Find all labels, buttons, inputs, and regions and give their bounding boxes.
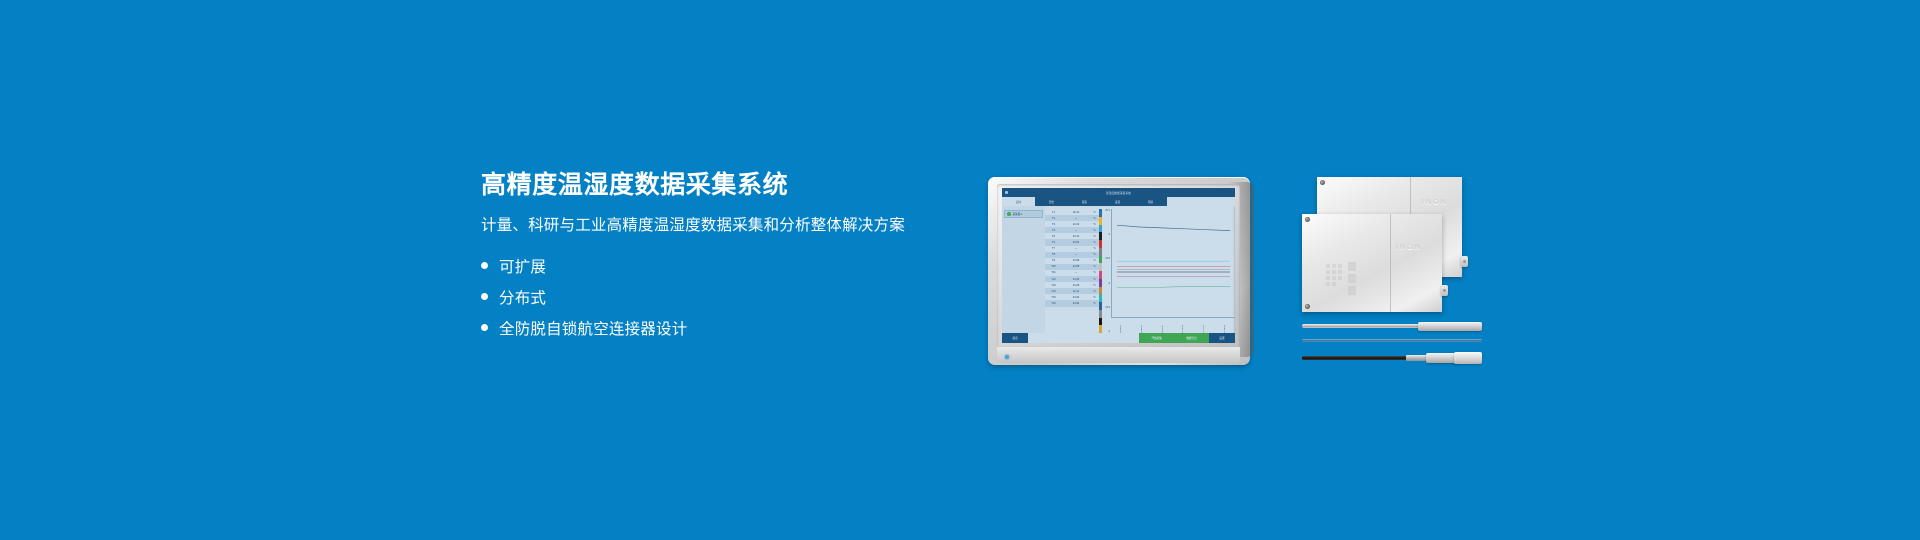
screw-icon: [1320, 180, 1325, 185]
screw-icon: [1305, 217, 1310, 222]
channel-unit: ℃: [1090, 290, 1099, 293]
list-item: 分布式: [481, 281, 951, 312]
channel-value: 24.19: [1062, 223, 1090, 226]
channel-unit: ℃: [1090, 235, 1099, 238]
chart-area: 25.1.024.8.624.5.2 16:20:0216:41:0916:52…: [1102, 206, 1235, 333]
channel-unit: ℃: [1090, 302, 1099, 305]
feature-label: 分布式: [499, 286, 546, 308]
channel-unit: ℃: [1090, 296, 1099, 299]
channel-id: T13: [1045, 284, 1062, 287]
channel-unit: ℃: [1090, 284, 1099, 287]
mounting-lug: [1461, 256, 1468, 267]
channel-id: T3: [1045, 223, 1062, 226]
tab-realtime[interactable]: 实时: [1002, 197, 1035, 206]
chart-y-axis: 25.1.024.8.624.5.2: [1102, 209, 1111, 333]
channel-id: T14: [1045, 290, 1062, 293]
chart-series-line: [1117, 286, 1230, 287]
monitor-product-image: 温湿度数据采集系统 实时 历史 报表 设置 帮助 采集器-1: [988, 177, 1250, 365]
y-tick-label: .6: [1108, 282, 1110, 285]
x-tick-label: 16:20:02: [1120, 319, 1122, 333]
y-tick-label: .0: [1108, 233, 1110, 236]
channel-value: 24.94: [1062, 302, 1090, 305]
start-acquisition-button[interactable]: 开始采集: [1139, 333, 1174, 343]
channel-id: T9: [1045, 259, 1062, 262]
app-title: 温湿度数据采集系统: [1002, 191, 1235, 195]
banner-copy: 高精度温湿度数据采集系统 计量、科研与工业高精度温湿度数据采集和分析整体解决方案…: [481, 172, 951, 343]
tab-report[interactable]: 报表: [1068, 197, 1101, 206]
list-item: 全防脱自锁航空连接器设计: [481, 312, 951, 343]
channel-id: T6: [1045, 241, 1062, 244]
app-titlebar: 温湿度数据采集系统: [1002, 188, 1235, 197]
stainless-probe: [1302, 322, 1482, 330]
enclosure-front-unit: INON: [1302, 214, 1442, 312]
screw-icon: [1305, 304, 1310, 309]
device-tree-panel: 采集器-1: [1002, 206, 1045, 333]
table-row[interactable]: T1624.94℃: [1045, 300, 1099, 306]
channel-unit: ℃: [1090, 265, 1099, 268]
hardware-product-images: INON INON: [1300, 172, 1480, 372]
tree-node-collector[interactable]: 采集器-1: [1004, 210, 1043, 218]
feature-label: 全防脱自锁航空连接器设计: [499, 317, 687, 339]
tab-help[interactable]: 帮助: [1134, 197, 1167, 206]
bullet-dot-icon: [481, 262, 488, 269]
channel-id: T12: [1045, 278, 1062, 281]
channel-id: T15: [1045, 296, 1062, 299]
monitor-chin: [997, 347, 1240, 363]
channel-value: ---: [1062, 271, 1090, 274]
chart-x-axis: 16:20:0216:41:0916:52:1117:03:0417:27:05…: [1111, 317, 1235, 333]
channel-id: T4: [1045, 229, 1062, 232]
channel-unit: ℃: [1090, 217, 1099, 220]
chart-series-line: [1117, 225, 1230, 230]
tree-node-label: 采集器-1: [1013, 212, 1023, 216]
channel-unit: ℃: [1090, 247, 1099, 250]
bullet-dot-icon: [481, 293, 488, 300]
channel-unit: ℃: [1090, 223, 1099, 226]
mounting-lug: [1441, 285, 1448, 296]
footer-spacer: [1028, 333, 1139, 343]
channel-id: T2: [1045, 217, 1062, 220]
channel-value: ---: [1062, 247, 1090, 250]
channel-value: 25.11: [1062, 211, 1090, 214]
channel-id: T8: [1045, 253, 1062, 256]
bullet-dot-icon: [481, 324, 488, 331]
channel-value: ---: [1062, 253, 1090, 256]
x-tick-label: 17:03:04: [1182, 319, 1184, 333]
chart-plot-column: 16:20:0216:41:0916:52:1117:03:0417:27:05…: [1111, 209, 1235, 333]
channel-value: 24.90: [1062, 278, 1090, 281]
channel-id: T7: [1045, 247, 1062, 250]
export-data-button[interactable]: 数据导出: [1174, 333, 1209, 343]
chart-svg: [1112, 209, 1235, 317]
channel-value: 24.98: [1062, 259, 1090, 262]
list-item: 可扩展: [481, 250, 951, 281]
channel-id: T11: [1045, 271, 1062, 274]
x-tick-label: 17:27:05: [1203, 319, 1205, 333]
product-banner: 高精度温湿度数据采集系统 计量、科研与工业高精度温湿度数据采集和分析整体解决方案…: [0, 0, 1920, 540]
chart-plot: [1111, 209, 1235, 317]
channel-id: T1: [1045, 211, 1062, 214]
tabbar-filler: [1167, 197, 1235, 206]
app-tabbar: 实时 历史 报表 设置 帮助: [1002, 197, 1235, 206]
channel-unit: ℃: [1090, 259, 1099, 262]
channel-id: T5: [1045, 235, 1062, 238]
channel-value: 24.11: [1062, 290, 1090, 293]
x-tick-label: 16:41:09: [1141, 319, 1143, 333]
channel-id: T16: [1045, 302, 1062, 305]
feature-label: 可扩展: [499, 255, 546, 277]
channel-value: 24.81: [1062, 241, 1090, 244]
channel-table: T125.11℃T2---℃T324.19℃T4---℃T524.12℃T624…: [1045, 206, 1099, 333]
y-tick-label: 24.8: [1105, 257, 1110, 260]
power-led-icon: [1005, 355, 1009, 359]
y-tick-label: 24.5: [1105, 306, 1110, 309]
connector-probe: [1302, 352, 1482, 364]
settings-button[interactable]: 设置: [1209, 333, 1235, 343]
monitor-inner-bezel: 温湿度数据采集系统 实时 历史 报表 设置 帮助 采集器-1: [997, 184, 1240, 347]
channel-value: 24.88: [1062, 265, 1090, 268]
channel-unit: ℃: [1090, 241, 1099, 244]
channel-value: 24.90: [1062, 296, 1090, 299]
app-body: 采集器-1 T125.11℃T2---℃T324.19℃T4---℃T524.1…: [1002, 206, 1235, 333]
channel-unit: ℃: [1090, 271, 1099, 274]
channel-unit: ℃: [1090, 253, 1099, 256]
channel-unit: ℃: [1090, 211, 1099, 214]
x-tick-label: 17:38:04: [1224, 319, 1226, 333]
channel-unit: ℃: [1090, 278, 1099, 281]
channel-value: ---: [1062, 229, 1090, 232]
etched-pattern: [1326, 264, 1358, 294]
channel-value: 24.12: [1062, 235, 1090, 238]
cable-probe: [1302, 338, 1482, 344]
status-dot-icon: [1007, 212, 1011, 216]
brand-label: INON: [1396, 244, 1422, 251]
x-tick-label: 16:52:11: [1162, 319, 1164, 333]
feature-list: 可扩展 分布式 全防脱自锁航空连接器设计: [481, 250, 951, 343]
channel-unit: ℃: [1090, 229, 1099, 232]
page-subtitle: 计量、科研与工业高精度温湿度数据采集和分析整体解决方案: [481, 216, 951, 237]
channel-value: 24.28: [1062, 284, 1090, 287]
channel-id: T10: [1045, 265, 1062, 268]
brand-label: INON: [1422, 199, 1448, 206]
page-title: 高精度温湿度数据采集系统: [481, 172, 951, 200]
exit-button[interactable]: 退出: [1002, 333, 1028, 343]
tab-history[interactable]: 历史: [1035, 197, 1068, 206]
software-screen: 温湿度数据采集系统 实时 历史 报表 设置 帮助 采集器-1: [1002, 188, 1235, 343]
tab-settings[interactable]: 设置: [1101, 197, 1134, 206]
y-tick-label: 25.1: [1105, 209, 1110, 212]
channel-value: ---: [1062, 217, 1090, 220]
app-footer: 退出 开始采集 数据导出 设置: [1002, 333, 1235, 343]
